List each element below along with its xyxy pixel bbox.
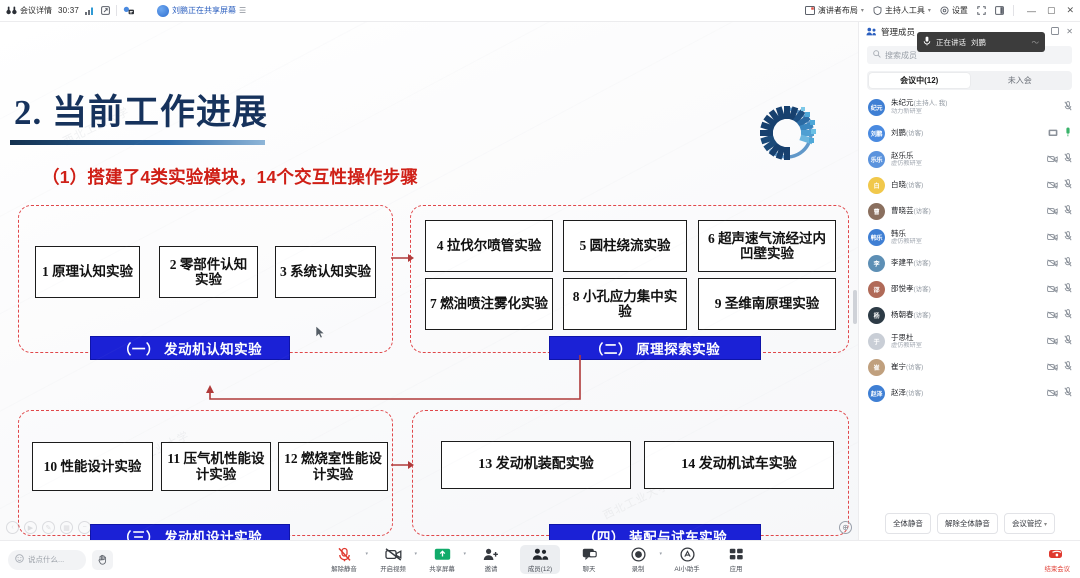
participant-role: (访客) bbox=[914, 208, 931, 215]
participant-status-icons bbox=[1048, 124, 1072, 142]
meeting-control-button[interactable]: 会议管控 ▾ bbox=[1004, 513, 1055, 534]
participant-status-icons bbox=[1047, 254, 1072, 272]
share-screen-icon bbox=[434, 547, 451, 562]
split-view-icon[interactable] bbox=[995, 6, 1004, 15]
participant-name: 曹晓芸(访客) bbox=[891, 206, 1041, 216]
fullscreen-icon[interactable] bbox=[977, 6, 986, 15]
close-icon[interactable]: ✕ bbox=[1066, 27, 1073, 37]
participant-meta: 韩乐虚仿教研室 bbox=[891, 229, 1041, 246]
shared-screen-stage[interactable]: 西北工业大学 西北工业大学 西北工业大学 西北工业大学 2. 当前工作进展 bbox=[0, 22, 858, 540]
tool-label: 录制 bbox=[632, 564, 645, 573]
experiment-cell[interactable]: 4 拉伐尔喷管实验 bbox=[425, 220, 553, 272]
tooltip-wave-icon: 〜 bbox=[1032, 37, 1040, 48]
mic-muted-icon[interactable] bbox=[1064, 332, 1072, 350]
participant-row[interactable]: 曹曹晓芸(访客) bbox=[859, 198, 1080, 224]
unmute-all-button[interactable]: 解除全体静音 bbox=[937, 513, 998, 534]
camera-off-icon[interactable] bbox=[1047, 358, 1058, 376]
mic-muted-icon[interactable] bbox=[1064, 358, 1072, 376]
sharing-label: 刘鹏正在共享屏幕 bbox=[172, 5, 236, 16]
pen-tool-icon[interactable]: ✎ bbox=[42, 521, 55, 534]
connector-group1-to-group2 bbox=[391, 250, 415, 266]
quick-chat-input[interactable]: 说点什么... bbox=[8, 550, 86, 570]
speaking-tooltip: 正在讲话 刘鹏 〜 bbox=[917, 32, 1045, 52]
participant-name: 赵泽(访客) bbox=[891, 388, 1041, 398]
participant-meta: 邵悦孝(访客) bbox=[891, 284, 1041, 294]
raise-hand-icon[interactable] bbox=[92, 550, 113, 570]
tool-mic-muted[interactable]: 解除静音▾ bbox=[324, 545, 364, 574]
participant-role: (访客) bbox=[914, 260, 931, 267]
participant-meta: 李建平(访客) bbox=[891, 258, 1041, 268]
camera-off-icon[interactable] bbox=[1047, 280, 1058, 298]
avatar: 刘鹏 bbox=[868, 125, 885, 142]
chevron-down-icon[interactable]: ▾ bbox=[463, 551, 466, 557]
tool-label: 成员(12) bbox=[528, 564, 552, 573]
mic-muted-icon[interactable] bbox=[1064, 150, 1072, 168]
chevron-down-icon: ▾ bbox=[861, 7, 864, 14]
sharer-avatar bbox=[157, 5, 169, 17]
host-tools-button[interactable]: 主持人工具 ▾ bbox=[873, 5, 931, 16]
avatar: 纪元 bbox=[868, 99, 885, 116]
search-icon bbox=[873, 50, 881, 60]
participant-role: (访客) bbox=[914, 286, 931, 293]
camera-off-icon[interactable] bbox=[1047, 384, 1058, 402]
title-underline bbox=[10, 140, 265, 145]
group-4-label: （四） 装配与试车实验 bbox=[549, 524, 761, 540]
participant-meta: 刘鹏(访客) bbox=[891, 128, 1042, 138]
participant-status-icons bbox=[1047, 384, 1072, 402]
panel-tabs: 会议中(12) 未入会 bbox=[867, 71, 1072, 90]
experiment-cell[interactable]: 5 圆柱绕流实验 bbox=[563, 220, 687, 272]
settings-button[interactable]: 设置 bbox=[940, 5, 968, 16]
chevron-down-icon: ▾ bbox=[928, 7, 931, 14]
experiment-cell[interactable]: 2 零部件认知实验 bbox=[159, 246, 258, 298]
participant-status-icons bbox=[1047, 228, 1072, 246]
presentation-slide: 西北工业大学 西北工业大学 西北工业大学 西北工业大学 2. 当前工作进展 bbox=[0, 22, 858, 540]
avatar: 邵 bbox=[868, 281, 885, 298]
participant-meta: 赵乐乐虚仿教研室 bbox=[891, 151, 1041, 168]
experiment-cell[interactable]: 14 发动机试车实验 bbox=[644, 441, 834, 489]
experiment-cell[interactable]: 13 发动机装配实验 bbox=[441, 441, 631, 489]
bottom-toolbar: 说点什么... 解除静音▾开启视频▾共享屏幕▾邀请成员(12)聊天录制▾AI小助… bbox=[0, 540, 1080, 578]
mute-all-button[interactable]: 全体静音 bbox=[885, 513, 931, 534]
binoculars-icon bbox=[6, 6, 17, 15]
members-icon bbox=[532, 547, 549, 562]
participant-meta: 白晓(访客) bbox=[891, 180, 1041, 190]
participant-meta: 崔宁(访客) bbox=[891, 362, 1041, 372]
speaking-mic-icon bbox=[923, 36, 931, 48]
avatar: 杨 bbox=[868, 307, 885, 324]
participant-org: 虚仿教研室 bbox=[891, 342, 1041, 349]
speaking-label: 正在讲话 bbox=[936, 37, 966, 48]
settings-label: 设置 bbox=[952, 5, 968, 16]
avatar: 崔 bbox=[868, 359, 885, 376]
group-3-container: 10 性能设计实验 11 压气机性能设计实验 12 燃烧室性能设计实验 bbox=[18, 410, 393, 536]
participant-status-icons bbox=[1047, 332, 1072, 350]
tool-share-screen[interactable]: 共享屏幕▾ bbox=[422, 545, 462, 574]
gear-icon bbox=[940, 6, 949, 15]
meeting-info-button[interactable]: 会议详情 bbox=[6, 5, 52, 16]
speaking-name: 刘鹏 bbox=[971, 37, 986, 48]
tab-not-joined[interactable]: 未入会 bbox=[970, 73, 1071, 88]
tool-camera-off[interactable]: 开启视频▾ bbox=[373, 545, 413, 574]
toolbar-divider bbox=[116, 5, 117, 16]
chevron-down-icon[interactable]: ▾ bbox=[365, 551, 368, 557]
participant-status-icons bbox=[1047, 280, 1072, 298]
avatar: 赵泽 bbox=[868, 385, 885, 402]
participant-name: 杨朝春(访客) bbox=[891, 310, 1041, 320]
grid-view-icon[interactable]: ▦ bbox=[60, 521, 73, 534]
camera-off-icon bbox=[385, 547, 402, 562]
search-placeholder: 搜索成员 bbox=[885, 50, 917, 61]
participant-role: (访客) bbox=[906, 364, 923, 371]
mic-muted-icon[interactable] bbox=[1064, 254, 1072, 272]
stage-scrollbar-thumb[interactable] bbox=[853, 290, 857, 324]
mic-muted-icon[interactable] bbox=[1064, 202, 1072, 220]
meeting-info-label: 会议详情 bbox=[20, 5, 52, 16]
top-toolbar: 会议详情 30:37 刘鹏正在共享屏幕 ☰ bbox=[0, 0, 1080, 22]
prev-slide-icon[interactable]: ‹ bbox=[6, 521, 19, 534]
tool-label: 开启视频 bbox=[380, 564, 406, 573]
participant-name: 朱纪元(主持人, 我) bbox=[891, 98, 1058, 108]
participant-name: 刘鹏(访客) bbox=[891, 128, 1042, 138]
tab-in-meeting[interactable]: 会议中(12) bbox=[869, 73, 970, 88]
avatar: 韩乐 bbox=[868, 229, 885, 246]
quick-chat-placeholder: 说点什么... bbox=[28, 554, 64, 565]
invite-person-icon bbox=[483, 547, 499, 562]
more-menu-icon[interactable]: ☰ bbox=[239, 6, 246, 15]
people-icon bbox=[866, 27, 877, 38]
record-icon bbox=[631, 547, 646, 562]
avatar: 白 bbox=[868, 177, 885, 194]
participant-row[interactable]: 崔崔宁(访客) bbox=[859, 354, 1080, 380]
chevron-down-icon[interactable]: ▾ bbox=[659, 551, 662, 557]
participant-row[interactable]: 乐乐赵乐乐虚仿教研室 bbox=[859, 146, 1080, 172]
participant-row[interactable]: 韩乐韩乐虚仿教研室 bbox=[859, 224, 1080, 250]
participant-meta: 曹晓芸(访客) bbox=[891, 206, 1041, 216]
screen-share-status[interactable]: 刘鹏正在共享屏幕 ☰ bbox=[157, 5, 246, 17]
participant-row[interactable]: 赵泽赵泽(访客) bbox=[859, 380, 1080, 406]
network-status-icon[interactable] bbox=[123, 6, 135, 15]
tool-label: 邀请 bbox=[485, 564, 498, 573]
participant-role: (访客) bbox=[906, 390, 923, 397]
chat-bubble-icon bbox=[582, 547, 597, 562]
experiment-cell[interactable]: 10 性能设计实验 bbox=[32, 442, 153, 491]
layout-icon bbox=[805, 6, 815, 15]
camera-off-icon[interactable] bbox=[1047, 150, 1058, 168]
participant-status-icons bbox=[1047, 202, 1072, 220]
participant-name: 韩乐 bbox=[891, 229, 1041, 238]
camera-off-icon[interactable] bbox=[1047, 176, 1058, 194]
mouse-cursor bbox=[316, 326, 325, 339]
avatar: 李 bbox=[868, 255, 885, 272]
camera-off-icon[interactable] bbox=[1047, 306, 1058, 324]
participant-status-icons bbox=[1047, 176, 1072, 194]
meeting-control-label: 会议管控 bbox=[1012, 519, 1042, 528]
panel-footer: 全体静音 解除全体静音 会议管控 ▾ bbox=[859, 506, 1080, 540]
mic-on-icon[interactable] bbox=[1064, 124, 1072, 142]
tool-label: 共享屏幕 bbox=[429, 564, 455, 573]
leave-meeting-button[interactable]: 结束会议 bbox=[1044, 547, 1070, 573]
panel-title: 管理成员 bbox=[881, 26, 915, 38]
experiment-cell[interactable]: 3 系统认知实验 bbox=[275, 246, 376, 298]
participant-row[interactable]: 纪元朱纪元(主持人, 我)动力新研室 bbox=[859, 94, 1080, 120]
connector-group2-to-group3 bbox=[170, 353, 590, 415]
tool-label: AI小助手 bbox=[674, 564, 699, 573]
participant-name: 于思杜 bbox=[891, 333, 1041, 342]
group-2-container: 4 拉伐尔喷管实验 5 圆柱绕流实验 6 超声速气流经过内凹壁实验 7 燃油喷注… bbox=[410, 205, 849, 353]
slide-controls[interactable]: ‹ ▶ ✎ ▦ − bbox=[6, 521, 91, 534]
apps-grid-icon bbox=[729, 547, 744, 562]
participant-role: (访客) bbox=[914, 312, 931, 319]
leave-meeting-label: 结束会议 bbox=[1044, 564, 1070, 573]
tool-label: 聊天 bbox=[583, 564, 596, 573]
participant-row[interactable]: 白白晓(访客) bbox=[859, 172, 1080, 198]
tool-chat-bubble[interactable]: 聊天 bbox=[569, 545, 609, 574]
section-subtitle: （1）搭建了4类实验模块，14个交互性操作步骤 bbox=[42, 164, 418, 189]
signal-bars-icon[interactable] bbox=[85, 6, 95, 15]
mic-muted-icon[interactable] bbox=[1064, 306, 1072, 324]
participant-row[interactable]: 邵邵悦孝(访客) bbox=[859, 276, 1080, 302]
shield-icon bbox=[873, 6, 882, 15]
participant-meta: 杨朝春(访客) bbox=[891, 310, 1041, 320]
experiment-cell[interactable]: 1 原理认知实验 bbox=[35, 246, 140, 298]
tool-record[interactable]: 录制▾ bbox=[618, 545, 658, 574]
mic-muted-icon[interactable] bbox=[1064, 228, 1072, 246]
zoom-in-badge[interactable]: ⊕ bbox=[839, 521, 852, 534]
tool-apps-grid[interactable]: 应用 bbox=[716, 545, 756, 574]
group-1-container: 1 原理认知实验 2 零部件认知实验 3 系统认知实验 bbox=[18, 205, 393, 353]
participant-role: (访客) bbox=[906, 130, 923, 137]
mic-muted-icon[interactable] bbox=[1064, 280, 1072, 298]
participant-name: 邵悦孝(访客) bbox=[891, 284, 1041, 294]
camera-off-icon[interactable] bbox=[1047, 228, 1058, 246]
camera-off-icon[interactable] bbox=[1047, 202, 1058, 220]
mic-muted-icon[interactable] bbox=[1064, 384, 1072, 402]
participant-org: 虚仿教研室 bbox=[891, 238, 1041, 245]
group-4-container: 13 发动机装配实验 14 发动机试车实验 bbox=[412, 410, 849, 536]
mic-muted-icon bbox=[337, 547, 352, 562]
meeting-window: 会议详情 30:37 刘鹏正在共享屏幕 ☰ bbox=[0, 0, 1080, 578]
chevron-down-icon: ▾ bbox=[1044, 522, 1047, 528]
participant-row[interactable]: 刘鹏刘鹏(访客) bbox=[859, 120, 1080, 146]
participant-role: (主持人, 我) bbox=[914, 100, 948, 107]
experiment-cell[interactable]: 8 小孔应力集中实验 bbox=[563, 278, 687, 330]
participant-org: 虚仿教研室 bbox=[891, 160, 1041, 167]
experiment-cell[interactable]: 11 压气机性能设计实验 bbox=[161, 442, 271, 491]
participant-name: 李建平(访客) bbox=[891, 258, 1041, 268]
smiley-icon bbox=[15, 554, 24, 565]
participant-role: (访客) bbox=[906, 182, 923, 189]
minimize-button[interactable]: — bbox=[1027, 6, 1036, 16]
mic-muted-icon[interactable] bbox=[1064, 176, 1072, 194]
spiral-institute-logo bbox=[754, 82, 820, 148]
play-slide-icon[interactable]: ▶ bbox=[24, 521, 37, 534]
speaker-layout-label: 演讲者布局 bbox=[818, 5, 858, 16]
participant-row[interactable]: 杨杨朝春(访客) bbox=[859, 302, 1080, 328]
leave-icon bbox=[1047, 547, 1067, 562]
close-button[interactable]: ✕ bbox=[1066, 5, 1074, 16]
meeting-tools: 解除静音▾开启视频▾共享屏幕▾邀请成员(12)聊天录制▾AI小助手应用 bbox=[324, 545, 756, 574]
participant-name: 白晓(访客) bbox=[891, 180, 1041, 190]
participant-org: 动力新研室 bbox=[891, 108, 1058, 115]
zoom-out-icon[interactable]: − bbox=[78, 521, 91, 534]
participant-status-icons bbox=[1047, 150, 1072, 168]
experiment-cell[interactable]: 7 燃油喷注雾化实验 bbox=[425, 278, 553, 330]
participant-name: 赵乐乐 bbox=[891, 151, 1041, 160]
tool-ai-assistant[interactable]: AI小助手 bbox=[667, 545, 707, 574]
camera-off-icon[interactable] bbox=[1047, 332, 1058, 350]
participant-row[interactable]: 李李建平(访客) bbox=[859, 250, 1080, 276]
host-tools-label: 主持人工具 bbox=[885, 5, 925, 16]
camera-off-icon[interactable] bbox=[1047, 254, 1058, 272]
experiment-cell[interactable]: 12 燃烧室性能设计实验 bbox=[278, 442, 388, 491]
participant-list[interactable]: 纪元朱纪元(主持人, 我)动力新研室刘鹏刘鹏(访客)乐乐赵乐乐虚仿教研室白白晓(… bbox=[859, 94, 1080, 524]
participants-panel: 管理成员 ✕ 正在讲话 刘鹏 〜 搜索成员 会议中(12) 未入会 bbox=[858, 22, 1080, 540]
experiment-cell[interactable]: 9 圣维南原理实验 bbox=[698, 278, 836, 330]
avatar: 乐乐 bbox=[868, 151, 885, 168]
tool-members[interactable]: 成员(12) bbox=[520, 545, 560, 574]
participant-status-icons bbox=[1064, 98, 1072, 116]
screen-share-icon[interactable] bbox=[1048, 124, 1058, 142]
avatar: 于 bbox=[868, 333, 885, 350]
popout-icon[interactable] bbox=[1051, 27, 1059, 37]
group-3-label: （三） 发动机设计实验 bbox=[90, 524, 290, 540]
popout-window-icon[interactable] bbox=[101, 6, 110, 15]
participant-row[interactable]: 于于思杜虚仿教研室 bbox=[859, 328, 1080, 354]
maximize-button[interactable]: ▢ bbox=[1047, 5, 1056, 16]
participant-status-icons bbox=[1047, 358, 1072, 376]
tool-label: 应用 bbox=[730, 564, 743, 573]
tool-invite-person[interactable]: 邀请 bbox=[471, 545, 511, 574]
speaker-layout-button[interactable]: 演讲者布局 ▾ bbox=[805, 5, 864, 16]
avatar: 曹 bbox=[868, 203, 885, 220]
mic-muted-icon[interactable] bbox=[1064, 98, 1072, 116]
experiment-cell[interactable]: 6 超声速气流经过内凹壁实验 bbox=[698, 220, 836, 272]
tool-label: 解除静音 bbox=[331, 564, 357, 573]
participant-name: 崔宁(访客) bbox=[891, 362, 1041, 372]
connector-group3-to-group4 bbox=[391, 457, 415, 473]
ai-assistant-icon bbox=[680, 547, 695, 562]
page-title: 2. 当前工作进展 bbox=[14, 84, 268, 135]
meeting-timer: 30:37 bbox=[58, 6, 79, 15]
participant-status-icons bbox=[1047, 306, 1072, 324]
chevron-down-icon[interactable]: ▾ bbox=[414, 551, 417, 557]
toolbar-divider bbox=[1013, 5, 1014, 16]
participant-meta: 赵泽(访客) bbox=[891, 388, 1041, 398]
participant-meta: 于思杜虚仿教研室 bbox=[891, 333, 1041, 350]
participant-meta: 朱纪元(主持人, 我)动力新研室 bbox=[891, 98, 1058, 116]
